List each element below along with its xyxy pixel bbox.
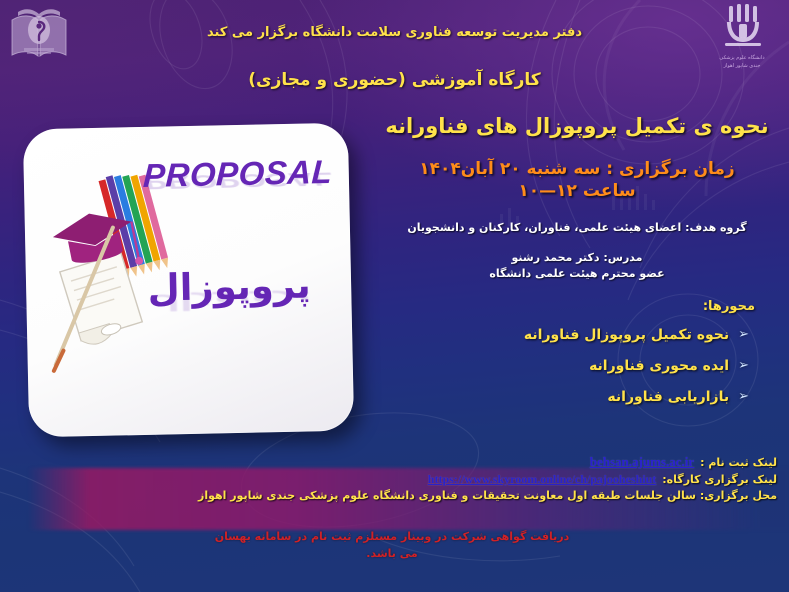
ajums-logo-caption-line1: دانشگاه علوم پزشکی (705, 55, 779, 62)
registration-link-label: لینک ثبت نام : (700, 456, 777, 469)
event-datetime: زمان برگزاری : سه شنبه ۲۰ آبان۱۴۰۴ ساعت … (375, 158, 779, 202)
poster-main-content: نحوه ی تکمیل پروپوزال های فناورانه زمان … (375, 112, 779, 420)
chevron-bullet-icon: ➢ (738, 328, 749, 341)
target-audience: گروه هدف: اعضای هیئت علمی، فناوران، کارک… (375, 221, 779, 234)
certificate-notice-line2: می باشد. (7, 545, 777, 562)
certificate-notice-line1: دریافت گواهی شرکت در وبینار مستلزم ثبت ن… (215, 530, 570, 543)
workshop-link-row: لینک برگزاری کارگاه: https://www.skyroom… (7, 472, 777, 487)
workshop-link-url[interactable]: https://www.skyroom.online/ch/pajooheshi… (428, 472, 657, 487)
topics-section: محورها: ➢ نحوه تکمیل پروپوزال فناورانه ➢… (375, 299, 779, 405)
event-time: ساعت ۱۲—۱۰ (375, 180, 779, 202)
instructor-title: عضو محترم هیئت علمی دانشگاه (375, 266, 779, 283)
workshop-poster: دانشگاه علوم پزشکی جندی شاپور اهواز دفتر… (0, 0, 789, 592)
footer-links-block: لینک ثبت نام : behsan.ajums.ac.ir لینک ب… (7, 454, 777, 502)
proposal-artwork-card: PROPOSAL PROPOSAL پروپوزال پروپوزال (23, 123, 354, 438)
chevron-bullet-icon: ➢ (738, 390, 749, 403)
ajums-university-logo: دانشگاه علوم پزشکی جندی شاپور اهواز (705, 2, 779, 66)
topics-heading: محورها: (375, 299, 771, 314)
chevron-bullet-icon: ➢ (738, 359, 749, 372)
topic-label: بازاریابی فناورانه (607, 389, 729, 405)
proposal-title-en-reflection: PROPOSAL (143, 168, 334, 193)
event-date: زمان برگزاری : سه شنبه ۲۰ آبان۱۴۰۴ (419, 159, 734, 179)
topic-label: نحوه تکمیل پروپوزال فناورانه (524, 327, 729, 343)
venue-line: محل برگزاری: سالن جلسات طبقه اول معاونت … (7, 489, 777, 502)
registration-link-url[interactable]: behsan.ajums.ac.ir (590, 454, 694, 470)
workshop-link-label: لینک برگزاری کارگاه: (662, 473, 777, 486)
topic-item: ➢ نحوه تکمیل پروپوزال فناورانه (375, 327, 771, 343)
proposal-title-fa-reflection: پروپوزال (129, 290, 329, 316)
topic-label: ایده محوری فناورانه (589, 358, 729, 374)
instructor-name: مدرس: دکتر محمد رشنو (375, 250, 779, 267)
ajums-logo-caption-line2: جندی شاپور اهواز (705, 63, 779, 70)
organizer-line: دفتر مدیریت توسعه فناوری سلامت دانشگاه ب… (96, 25, 693, 40)
certificate-notice: دریافت گواهی شرکت در وبینار مستلزم ثبت ن… (7, 528, 777, 562)
page-title: نحوه ی تکمیل پروپوزال های فناورانه (375, 112, 779, 140)
topic-item: ➢ بازاریابی فناورانه (375, 389, 771, 405)
health-technology-development-office-logo (8, 6, 70, 64)
instructor-block: مدرس: دکتر محمد رشنو عضو محترم هیئت علمی… (375, 250, 779, 283)
topic-item: ➢ ایده محوری فناورانه (375, 358, 771, 374)
registration-link-row: لینک ثبت نام : behsan.ajums.ac.ir (7, 454, 777, 470)
workshop-type-label: کارگاه آموزشی (حضوری و مجازی) (96, 70, 693, 90)
